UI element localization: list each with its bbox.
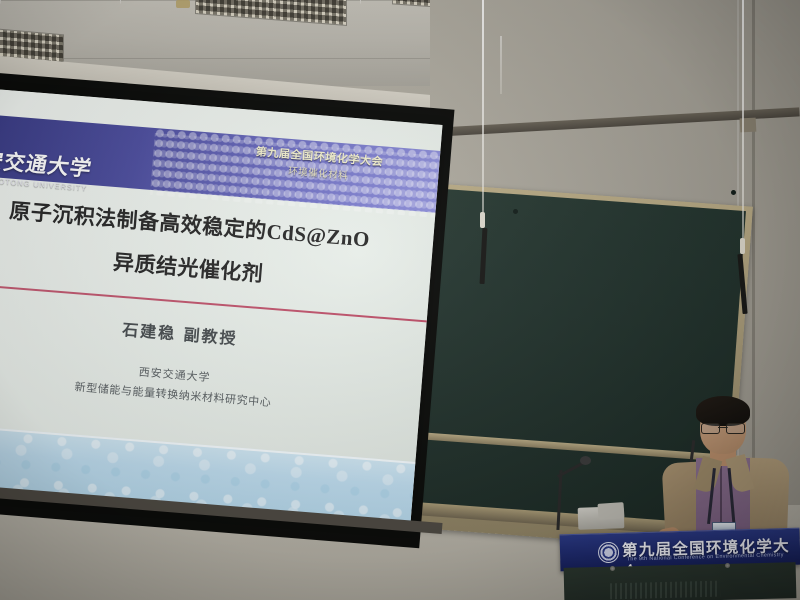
- hanging-cord: [500, 36, 502, 94]
- hanging-cord: [742, 0, 744, 238]
- projection-screen: 西安交通大学 XI'AN JIAOTONG UNIVERSITY 第九届全国环境…: [0, 88, 443, 524]
- presenter-name: 石建稳 副教授: [0, 302, 411, 363]
- cord-weight: [740, 238, 745, 254]
- conference-emblem-icon: [598, 542, 620, 564]
- eyeglasses-icon: [701, 423, 745, 432]
- podium-vent-grille: [610, 581, 720, 600]
- blackboard-clip: [731, 190, 736, 195]
- hair: [696, 396, 750, 426]
- podium-fastener: [610, 566, 615, 571]
- hanging-cord: [482, 0, 484, 212]
- ceiling-fitting: [176, 0, 190, 8]
- microphone-head: [580, 456, 591, 465]
- slide-surface: 西安交通大学 XI'AN JIAOTONG UNIVERSITY 第九届全国环境…: [0, 88, 443, 524]
- lecture-hall-photo: 西安交通大学 XI'AN JIAOTONG UNIVERSITY 第九届全国环境…: [0, 0, 800, 600]
- cord-weight: [480, 212, 485, 228]
- blackboard-clip: [513, 209, 518, 214]
- podium-fastener: [725, 563, 730, 568]
- slide-header-band: 西安交通大学 XI'AN JIAOTONG UNIVERSITY 第九届全国环境…: [0, 114, 440, 213]
- university-logo: 西安交通大学 XI'AN JIAOTONG UNIVERSITY: [0, 143, 111, 195]
- laptop-lid: [597, 502, 624, 520]
